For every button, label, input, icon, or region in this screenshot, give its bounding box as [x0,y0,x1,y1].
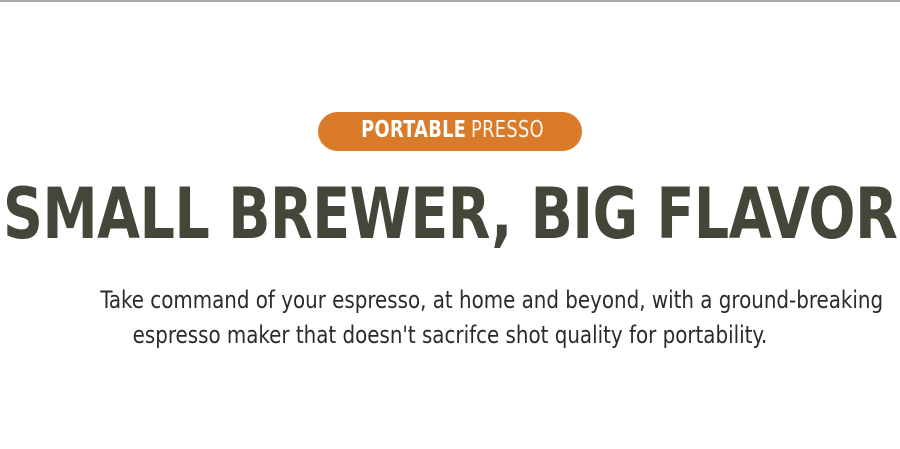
hero-subcopy-line-2: espresso maker that doesn't sacrifce sho… [100,318,799,353]
badge-label-light: PRESSO [471,119,544,142]
hero-subcopy: Take command of your espresso, at home a… [100,283,799,353]
hero-subcopy-line-1: Take command of your espresso, at home a… [100,283,799,318]
badge-label-strong: PORTABLE [361,119,466,142]
page-title: SMALL BREWER, BIG FLAVOR [3,179,897,249]
eyebrow-badge: PORTABLEPRESSO [318,112,582,151]
hero-section: PORTABLEPRESSO SMALL BREWER, BIG FLAVOR … [0,0,900,449]
